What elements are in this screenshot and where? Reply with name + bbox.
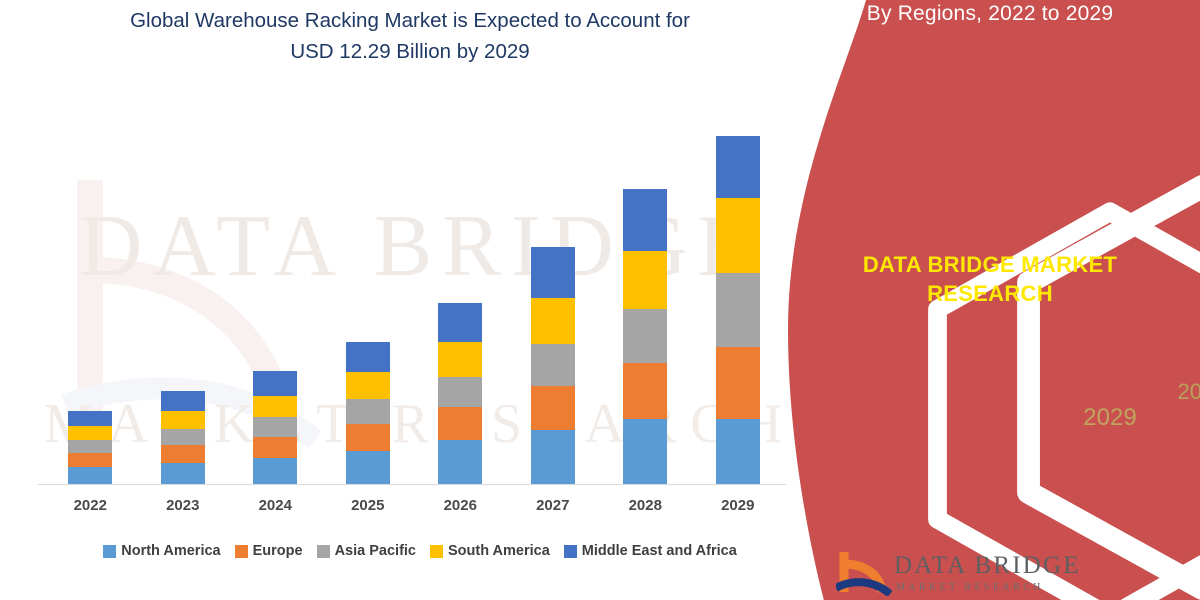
- legend-swatch-icon: [564, 545, 577, 558]
- bar-segment: [623, 363, 667, 419]
- bar-segment: [346, 399, 390, 424]
- x-axis-labels: 20222023202420252026202720282029: [44, 492, 784, 520]
- logo-tagline: MARKET RESEARCH: [896, 582, 1044, 593]
- company-logo: DATA BRIDGE MARKET RESEARCH: [836, 542, 1086, 598]
- bar-segment: [716, 273, 760, 347]
- hexagon-2029: 2029: [900, 118, 1200, 600]
- bar-segment: [253, 458, 297, 485]
- legend-label: South America: [448, 543, 550, 559]
- hexagon-2029-label: 2029: [900, 404, 1200, 432]
- legend-swatch-icon: [317, 545, 330, 558]
- bridge-logo-icon: [836, 548, 892, 596]
- hexagon-group: 2022 2029: [780, 92, 1200, 232]
- legend-swatch-icon: [430, 545, 443, 558]
- chart-plot-area: [44, 100, 784, 485]
- x-axis-label-2027: 2027: [509, 492, 597, 520]
- x-axis-label-2028: 2028: [601, 492, 689, 520]
- legend-label: North America: [121, 543, 220, 559]
- bar-segment: [346, 451, 390, 485]
- hexagon-2029-icon: [900, 118, 1200, 600]
- chart-title-line1: Global Warehouse Racking Market is Expec…: [20, 6, 800, 37]
- bar-segment: [346, 424, 390, 451]
- x-axis-line: [38, 484, 786, 485]
- bar-segment: [531, 344, 575, 386]
- bar-segment: [68, 467, 112, 485]
- bar-segment: [716, 419, 760, 485]
- bar-segment: [438, 377, 482, 408]
- legend-item[interactable]: Europe: [235, 543, 303, 559]
- bar-segment: [161, 463, 205, 485]
- bar-segment: [531, 247, 575, 298]
- bar-segment: [438, 303, 482, 342]
- legend-label: Asia Pacific: [335, 543, 416, 559]
- logo-name: DATA BRIDGE: [894, 552, 1081, 580]
- brand-panel: By Regions, 2022 to 2029 2022 2029 DATA …: [780, 0, 1200, 600]
- bar-segment: [623, 309, 667, 363]
- bar-column-2025: [324, 100, 412, 485]
- brand-name-line1: DATA BRIDGE MARKET: [790, 250, 1190, 279]
- chart-title-line2: USD 12.29 Billion by 2029: [20, 37, 800, 68]
- x-axis-label-2023: 2023: [139, 492, 227, 520]
- stacked-bar: [253, 371, 297, 485]
- legend-swatch-icon: [235, 545, 248, 558]
- bar-segment: [161, 445, 205, 463]
- bar-segment: [68, 411, 112, 426]
- bar-column-2023: [139, 100, 227, 485]
- bar-segment: [253, 396, 297, 417]
- bar-segment: [438, 342, 482, 377]
- bar-segment: [253, 417, 297, 437]
- brand-name-line2: RESEARCH: [790, 279, 1190, 308]
- bar-segment: [531, 386, 575, 431]
- bar-segment: [253, 437, 297, 458]
- stacked-bar: [161, 391, 205, 485]
- stacked-bar-group: [44, 100, 784, 485]
- bar-column-2026: [416, 100, 504, 485]
- bar-segment: [68, 426, 112, 440]
- chart-legend: North AmericaEuropeAsia PacificSouth Ame…: [40, 538, 800, 564]
- legend-item[interactable]: Asia Pacific: [317, 543, 416, 559]
- x-axis-label-2026: 2026: [416, 492, 504, 520]
- bar-column-2027: [509, 100, 597, 485]
- x-axis-label-2025: 2025: [324, 492, 412, 520]
- stacked-bar: [623, 189, 667, 485]
- brand-name: DATA BRIDGE MARKET RESEARCH: [790, 250, 1190, 308]
- legend-item[interactable]: Middle East and Africa: [564, 543, 737, 559]
- panel-heading: By Regions, 2022 to 2029: [780, 2, 1200, 26]
- bar-column-2022: [46, 100, 134, 485]
- legend-swatch-icon: [103, 545, 116, 558]
- legend-label: Middle East and Africa: [582, 543, 737, 559]
- stacked-bar: [68, 411, 112, 485]
- bar-segment: [716, 136, 760, 198]
- chart-title: Global Warehouse Racking Market is Expec…: [20, 6, 800, 68]
- x-axis-label-2022: 2022: [46, 492, 134, 520]
- bar-segment: [623, 419, 667, 485]
- bar-segment: [68, 453, 112, 467]
- bar-segment: [531, 298, 575, 344]
- legend-item[interactable]: North America: [103, 543, 220, 559]
- bar-segment: [716, 198, 760, 274]
- bar-segment: [161, 411, 205, 429]
- bar-segment: [623, 189, 667, 251]
- x-axis-label-2029: 2029: [694, 492, 782, 520]
- bar-segment: [253, 371, 297, 396]
- bar-segment: [161, 391, 205, 411]
- bar-column-2029: [694, 100, 782, 485]
- bar-segment: [438, 407, 482, 440]
- stacked-bar: [346, 342, 390, 485]
- x-axis-label-2024: 2024: [231, 492, 319, 520]
- bar-segment: [531, 430, 575, 485]
- stacked-bar: [531, 247, 575, 485]
- bar-segment: [346, 342, 390, 372]
- infographic-root: DATA BRIDGE MARKET RESEARCH Global Wareh…: [0, 0, 1200, 600]
- bar-segment: [438, 440, 482, 485]
- stacked-bar: [438, 303, 482, 485]
- bar-segment: [68, 440, 112, 453]
- stacked-bar: [716, 136, 760, 485]
- bar-segment: [623, 251, 667, 309]
- bar-segment: [161, 429, 205, 445]
- legend-item[interactable]: South America: [430, 543, 550, 559]
- bar-column-2024: [231, 100, 319, 485]
- bar-column-2028: [601, 100, 689, 485]
- bar-segment: [346, 372, 390, 399]
- bar-segment: [716, 347, 760, 419]
- legend-label: Europe: [253, 543, 303, 559]
